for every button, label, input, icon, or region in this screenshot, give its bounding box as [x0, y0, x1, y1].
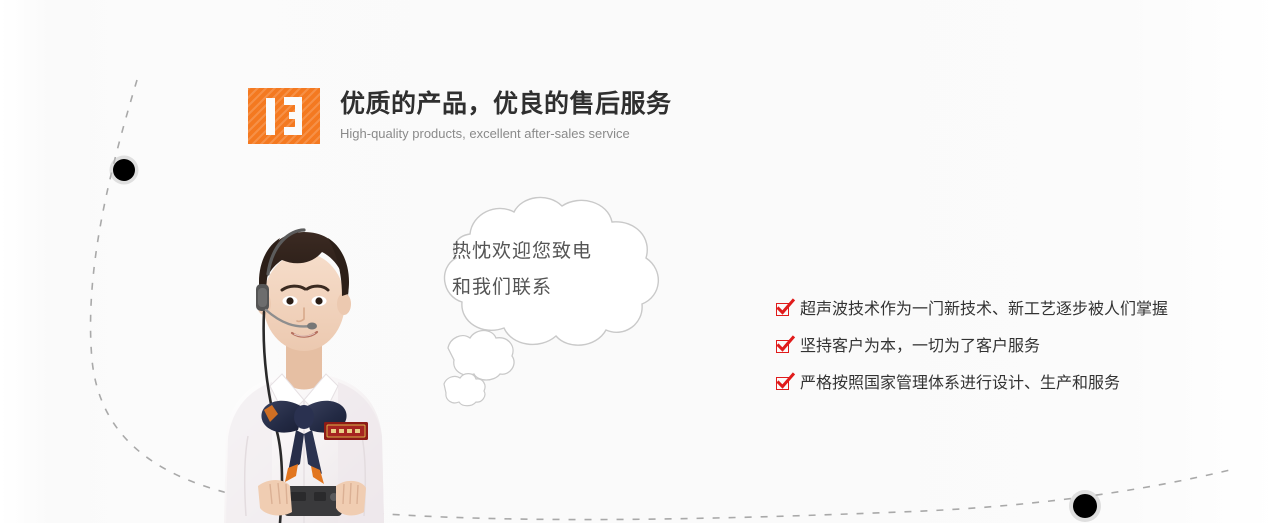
promo-banner: 03 优质的产品，优良的售后服务 High-quality products, …	[0, 0, 1280, 523]
feature-label: 严格按照国家管理体系进行设计、生产和服务	[800, 372, 1120, 395]
speech-bubble-line-2: 和我们联系	[452, 270, 652, 306]
feature-list-item: 严格按照国家管理体系进行设计、生产和服务	[776, 372, 1168, 395]
path-node-bottom-icon	[1069, 490, 1101, 522]
badge-digit-three	[284, 97, 302, 135]
speech-bubble-line-1: 热忱欢迎您致电	[452, 234, 652, 270]
section-number-badge: 03	[248, 88, 320, 144]
path-node-top-icon	[110, 156, 139, 185]
customer-service-agent-photo	[186, 186, 422, 523]
speech-bubble-cloud	[396, 188, 696, 428]
check-mark-icon	[776, 377, 789, 390]
check-mark-icon	[776, 303, 789, 316]
speech-bubble-text: 热忱欢迎您致电 和我们联系	[452, 234, 652, 306]
badge-digit-zero	[266, 98, 275, 135]
feature-label: 坚持客户为本，一切为了客户服务	[800, 335, 1040, 358]
feature-list-item: 坚持客户为本，一切为了客户服务	[776, 335, 1168, 358]
section-title-chinese: 优质的产品，优良的售后服务	[340, 89, 672, 119]
section-heading: 03 优质的产品，优良的售后服务 High-quality products, …	[248, 88, 672, 144]
check-mark-icon	[776, 340, 789, 353]
feature-list-item: 超声波技术作为一门新技术、新工艺逐步被人们掌握	[776, 298, 1168, 321]
badge-number-glyphs	[248, 88, 320, 144]
heading-text-group: 优质的产品，优良的售后服务 High-quality products, exc…	[340, 88, 672, 143]
feature-label: 超声波技术作为一门新技术、新工艺逐步被人们掌握	[800, 298, 1168, 321]
feature-list: 超声波技术作为一门新技术、新工艺逐步被人们掌握 坚持客户为本，一切为了客户服务 …	[776, 298, 1168, 395]
section-title-english: High-quality products, excellent after-s…	[340, 125, 672, 143]
